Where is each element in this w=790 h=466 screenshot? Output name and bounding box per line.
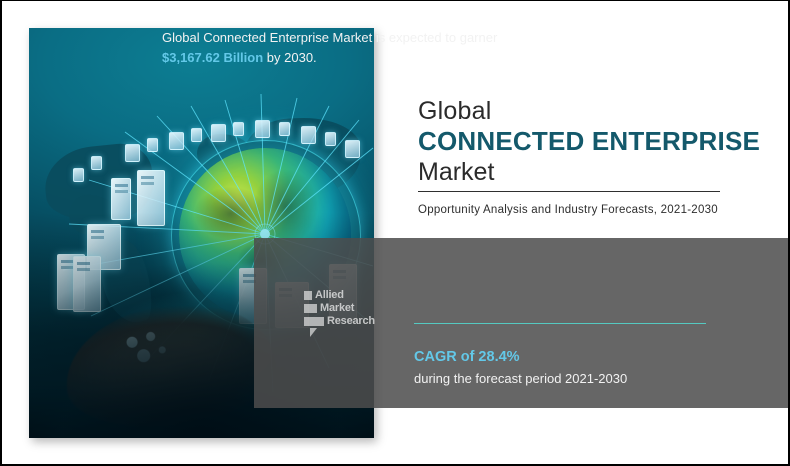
speech-bubble-tail-icon xyxy=(310,328,317,337)
watermark-bar-icon xyxy=(304,317,324,326)
title-suffix: Market xyxy=(418,158,758,187)
watermark-bar-icon xyxy=(304,291,312,300)
report-cover-page: Global CONNECTED ENTERPRISE Market Oppor… xyxy=(0,0,790,466)
cagr-statement: CAGR of 28.4% during the forecast period… xyxy=(414,347,744,388)
market-value-statement: Global Connected Enterprise Market is ex… xyxy=(162,28,512,68)
allied-market-research-watermark: Allied Market Research xyxy=(304,289,388,341)
watermark-text-market: Market xyxy=(320,303,354,314)
title-main: CONNECTED ENTERPRISE xyxy=(418,125,758,158)
cagr-headline: CAGR of 28.4% xyxy=(414,347,744,369)
stats-divider xyxy=(414,323,706,324)
watermark-line-3: Research xyxy=(304,315,388,328)
watermark-bar-icon xyxy=(304,304,317,313)
page-title: Global CONNECTED ENTERPRISE Market xyxy=(418,97,758,186)
watermark-line-2: Market xyxy=(304,302,388,315)
title-divider xyxy=(418,191,720,192)
market-value: $3,167.62 Billion xyxy=(162,50,263,65)
watermark-text-research: Research xyxy=(327,316,375,327)
stat-sentence-part2: by 2030. xyxy=(263,50,317,65)
watermark-text-allied: Allied xyxy=(315,290,344,301)
cagr-period: during the forecast period 2021-2030 xyxy=(414,369,744,389)
report-subtitle: Opportunity Analysis and Industry Foreca… xyxy=(418,204,768,216)
title-prefix: Global xyxy=(418,97,758,125)
stat-sentence-part1: Global Connected Enterprise Market is ex… xyxy=(162,30,497,45)
watermark-line-1: Allied xyxy=(304,289,388,302)
